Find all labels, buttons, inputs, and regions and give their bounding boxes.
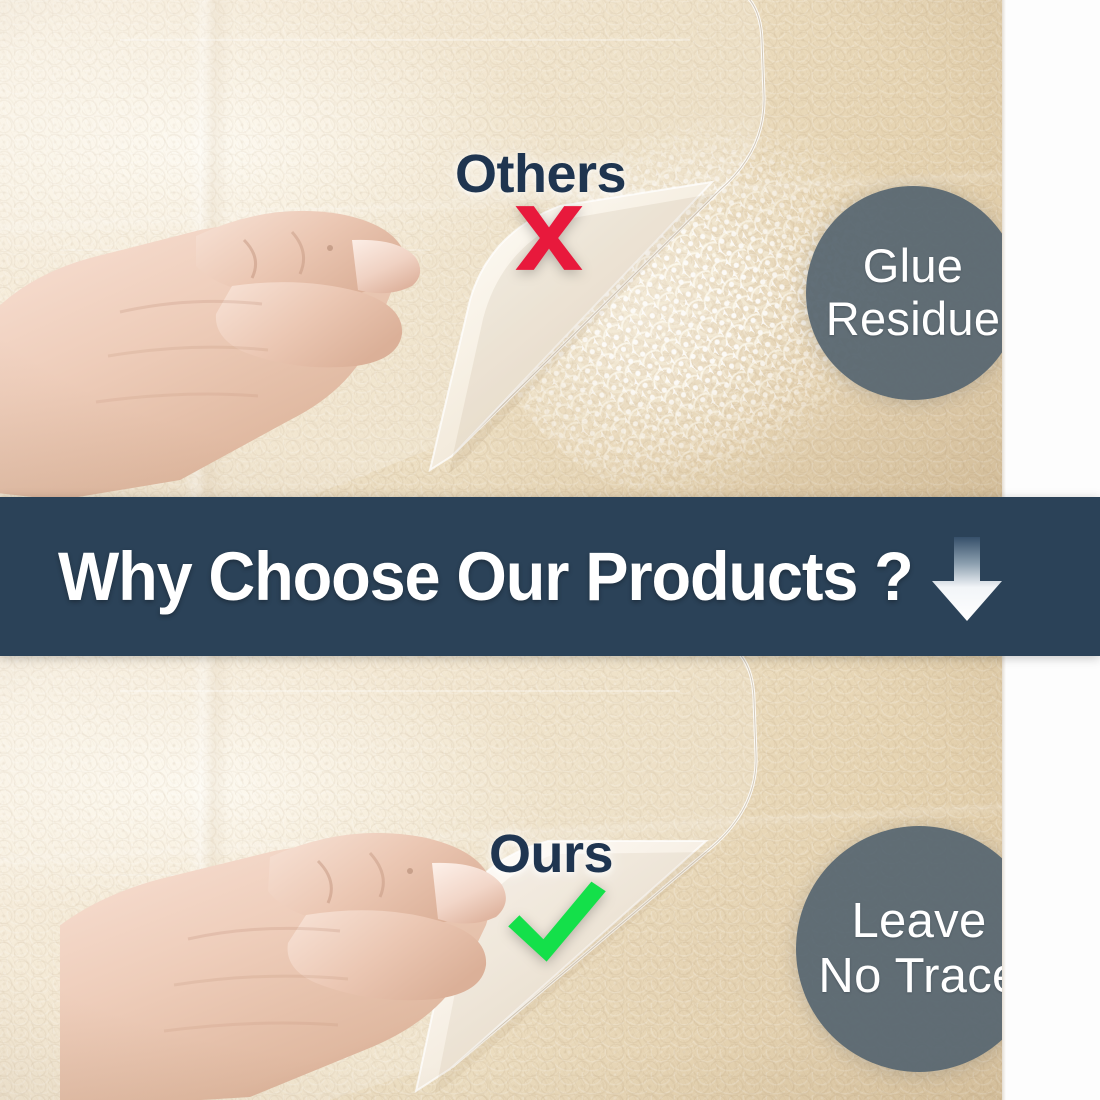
badge-trace-line-2: No Trace (818, 949, 1019, 1004)
down-arrow-icon (928, 537, 1006, 621)
check-mark-icon (505, 880, 609, 964)
comparison-label-others: Others (455, 143, 626, 205)
badge-glue-line-1: Glue (826, 240, 1001, 293)
banner-title: Why Choose Our Products ? (58, 537, 913, 616)
comparison-panel-others: Others Glue Residue (0, 0, 1002, 500)
why-choose-banner: Why Choose Our Products ? (0, 497, 1100, 656)
x-mark-icon (511, 200, 587, 276)
badge-glue-line-2: Residue (826, 293, 1001, 346)
infographic-canvas: Others Glue Residue (0, 0, 1100, 1100)
badge-trace-line-1: Leave (818, 894, 1019, 949)
comparison-label-ours: Ours (489, 823, 613, 885)
